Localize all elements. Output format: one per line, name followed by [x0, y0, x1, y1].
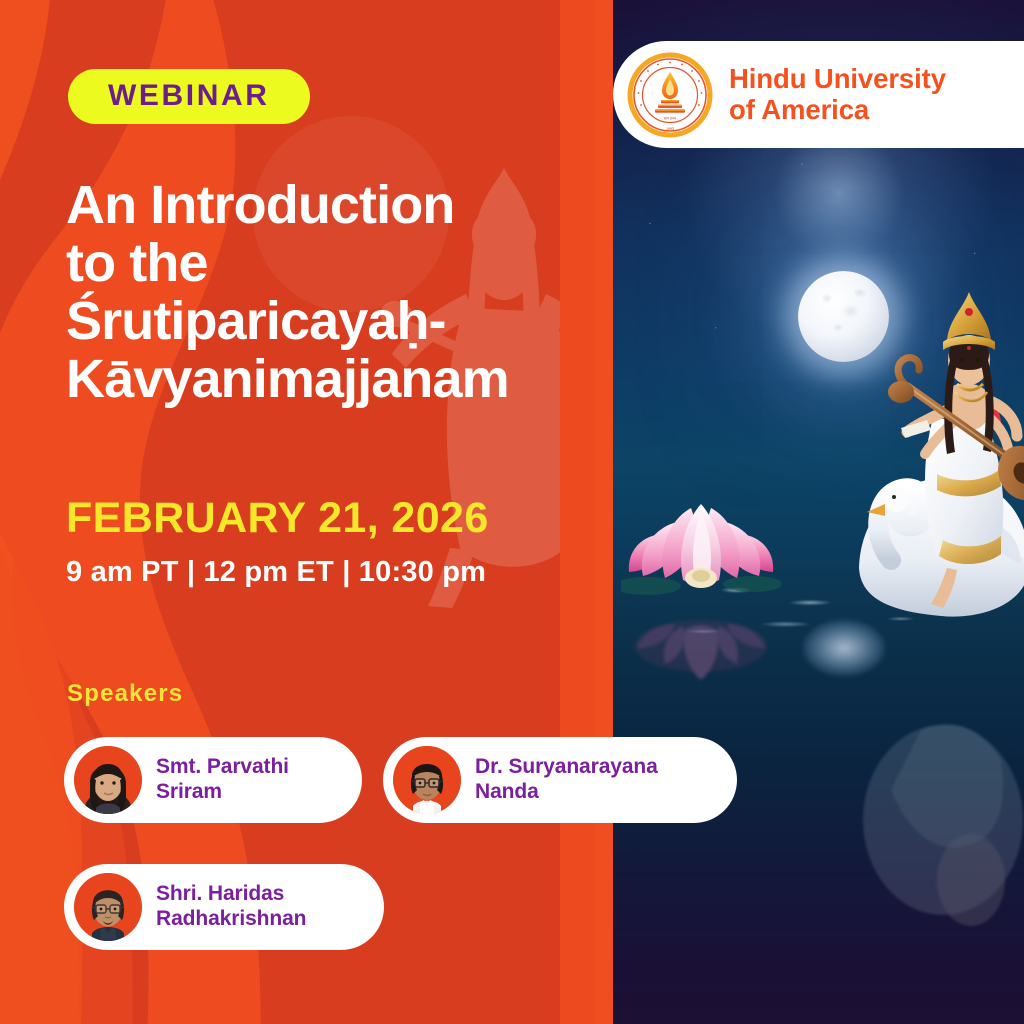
speakers-label: Speakers	[67, 682, 183, 706]
artwork-panel	[613, 0, 1024, 1024]
university-name: Hindu University of America	[729, 64, 946, 126]
svg-text:1993: 1993	[666, 127, 674, 131]
event-date: FEBRUARY 21, 2026	[66, 497, 489, 540]
webinar-badge: WEBINAR	[68, 69, 310, 124]
speaker-name: Smt. Parvathi Sriram	[156, 755, 289, 805]
avatar	[393, 746, 461, 814]
panel-edge-strip-inner	[595, 0, 613, 1024]
page-title: An Introduction to the Śrutiparicayaḥ- K…	[66, 176, 596, 408]
saraswati-reflection	[851, 640, 1024, 940]
speaker-card[interactable]: Shri. Haridas Radhakrishnan	[64, 864, 384, 950]
saraswati-deity-illustration	[851, 268, 1024, 658]
avatar	[74, 746, 142, 814]
webinar-poster: सत्यं ज्ञानम् 1993 Hindu University of A…	[0, 0, 1024, 1024]
university-seal-flame-icon: सत्यं ज्ञानम् 1993	[627, 52, 713, 138]
speaker-name: Dr. Suryanarayana Nanda	[475, 755, 658, 805]
speaker-card[interactable]: Smt. Parvathi Sriram	[64, 737, 362, 823]
lotus-reflection	[621, 598, 781, 708]
speaker-card[interactable]: Dr. Suryanarayana Nanda	[383, 737, 737, 823]
avatar	[74, 873, 142, 941]
event-time: 9 am PT | 12 pm ET | 10:30 pm	[66, 558, 486, 587]
lotus-flower-icon	[621, 480, 781, 600]
university-logo-banner[interactable]: सत्यं ज्ञानम् 1993 Hindu University of A…	[613, 41, 1024, 148]
svg-text:सत्यं ज्ञानम्: सत्यं ज्ञानम्	[664, 116, 677, 120]
speaker-name: Shri. Haridas Radhakrishnan	[156, 882, 306, 932]
